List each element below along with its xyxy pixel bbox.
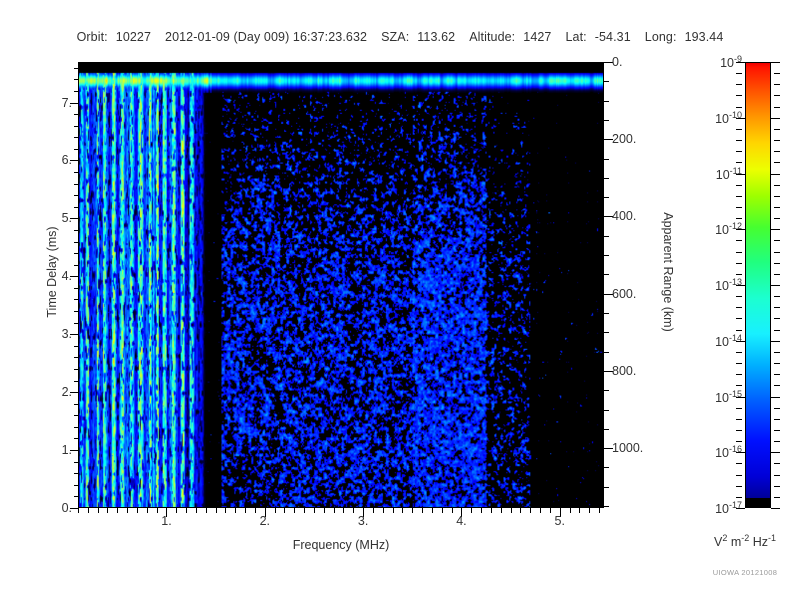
y-axis-right-tick-label: 600. <box>612 287 636 301</box>
long-label: Long: <box>645 30 677 44</box>
orbit-label: Orbit: <box>77 30 108 44</box>
sza-label: SZA: <box>381 30 409 44</box>
y-axis-left-tick-label: 6. <box>62 153 72 167</box>
x-axis-tick <box>501 508 502 513</box>
x-axis-tick <box>324 508 325 513</box>
x-axis-tick <box>334 508 335 513</box>
colorbar-tick <box>774 240 780 241</box>
colorbar-tick <box>774 352 780 353</box>
y-axis-right-tick-label: 0. <box>612 55 622 69</box>
altitude-value: 1427 <box>523 30 551 44</box>
colorbar-tick <box>771 285 780 286</box>
y-axis-left-tick <box>74 184 79 185</box>
colorbar-tick <box>774 196 780 197</box>
x-axis-tick <box>540 508 541 513</box>
y-axis-left-tick <box>74 369 79 370</box>
colorbar-tick <box>774 318 780 319</box>
y-axis-left-tick <box>74 311 79 312</box>
colorbar-tick <box>774 73 780 74</box>
x-axis-tick <box>225 508 226 513</box>
x-axis-tick <box>383 508 384 513</box>
y-axis-left-tick <box>74 323 79 324</box>
colorbar-tick <box>774 363 780 364</box>
colorbar-tick <box>771 397 780 398</box>
y-axis-left-tick <box>74 415 79 416</box>
colorbar-tick <box>771 118 780 119</box>
x-axis-tick <box>343 508 344 513</box>
y-axis-left-tick <box>74 438 79 439</box>
x-axis-tick <box>216 508 217 513</box>
y-axis-left-tick-label: 5. <box>62 211 72 225</box>
colorbar-tick-label: 10-17 <box>715 500 742 516</box>
y-axis-left-tick <box>74 288 79 289</box>
x-axis-tick <box>78 508 79 513</box>
colorbar-labels: 10-910-1010-1110-1210-1310-1410-1510-161… <box>690 62 742 508</box>
colorbar-tick <box>774 385 780 386</box>
y-axis-left-tick <box>74 473 79 474</box>
colorbar-tick <box>774 162 780 163</box>
long-value: 193.44 <box>685 30 724 44</box>
x-axis-title: Frequency (MHz) <box>78 538 604 552</box>
y-axis-left-tick <box>74 357 79 358</box>
colorbar-tick <box>774 374 780 375</box>
colorbar-tick <box>771 229 780 230</box>
y-axis-left-tick <box>74 91 79 92</box>
colorbar-tick <box>774 252 780 253</box>
y-axis-left-tick <box>74 346 79 347</box>
x-axis-tick <box>432 508 433 513</box>
y-axis-right-tick <box>604 101 609 102</box>
y-axis-left-tick <box>74 195 79 196</box>
colorbar-tick-label: 10-15 <box>715 388 742 404</box>
x-axis-tick <box>471 508 472 513</box>
colorbar-tick <box>774 107 780 108</box>
x-axis-tick <box>88 508 89 513</box>
y-axis-left-tick <box>74 265 79 266</box>
y-axis-left-tick <box>74 230 79 231</box>
colorbar-tick <box>774 330 780 331</box>
colorbar-tick <box>771 508 780 509</box>
x-axis-labels: 1.2.3.4.5. <box>78 514 604 534</box>
y-axis-left-tick <box>74 404 79 405</box>
colorbar-tick <box>774 430 780 431</box>
y-axis-right-tick <box>604 236 609 237</box>
colorbar-tick-label: 10-11 <box>716 165 742 181</box>
colorbar-tick-label: 10-10 <box>715 110 742 126</box>
y-axis-right-tick-label: 1000. <box>612 441 643 455</box>
x-axis-tick <box>275 508 276 513</box>
spectrogram-image <box>79 63 603 507</box>
x-axis-tick <box>373 508 374 513</box>
colorbar-tick <box>774 296 780 297</box>
x-axis-tick <box>530 508 531 513</box>
y-axis-right-tick <box>604 178 609 179</box>
x-axis-tick-label: 1. <box>161 514 171 528</box>
colorbar-tick <box>774 419 780 420</box>
colorbar-tick <box>774 140 780 141</box>
x-axis-tick <box>422 508 423 513</box>
y-axis-left-tick <box>74 242 79 243</box>
colorbar-tick <box>774 185 780 186</box>
observation-datetime: 2012-01-09 (Day 009) 16:37:23.632 <box>165 30 367 44</box>
colorbar-tick <box>774 95 780 96</box>
x-axis-tick-label: 4. <box>456 514 466 528</box>
x-axis-tick <box>206 508 207 513</box>
x-axis-tick <box>550 508 551 513</box>
x-axis-tick <box>304 508 305 513</box>
x-axis-tick <box>491 508 492 513</box>
orbit-value: 10227 <box>116 30 151 44</box>
colorbar-tick <box>774 408 780 409</box>
y-axis-right-tick <box>604 159 609 160</box>
x-axis-tick <box>599 508 600 513</box>
x-axis-tick <box>196 508 197 513</box>
y-axis-right-tick <box>604 410 609 411</box>
sza-value: 113.62 <box>417 30 455 44</box>
y-axis-right-tick <box>604 197 609 198</box>
colorbar-tick <box>774 463 780 464</box>
y-axis-right-tick <box>604 506 609 507</box>
x-axis-tick <box>570 508 571 513</box>
colorbar-tick <box>771 341 780 342</box>
x-axis-tick <box>147 508 148 513</box>
x-axis-tick <box>353 508 354 513</box>
x-axis-tick <box>176 508 177 513</box>
colorbar-tick-label: 10-12 <box>715 221 742 237</box>
y-axis-right-tick <box>604 429 609 430</box>
x-axis-tick <box>314 508 315 513</box>
x-axis-tick <box>393 508 394 513</box>
colorbar-units: V2 m-2 Hz-1 <box>690 533 800 549</box>
colorbar-tick <box>771 452 780 453</box>
altitude-label: Altitude: <box>469 30 515 44</box>
y-axis-left-tick <box>74 253 79 254</box>
x-axis-tick-label: 3. <box>358 514 368 528</box>
y-axis-left-tick-label: 0. <box>62 501 72 515</box>
x-axis-tick <box>117 508 118 513</box>
y-axis-left-tick <box>74 126 79 127</box>
y-axis-right-tick-label: 800. <box>612 364 636 378</box>
y-axis-right-tick <box>604 255 609 256</box>
y-axis-right-tick-label: 200. <box>612 132 636 146</box>
lat-label: Lat: <box>565 30 586 44</box>
credit-stamp: UIOWA 20121008 <box>690 568 800 577</box>
y-axis-left-tick <box>74 79 79 80</box>
y-axis-left-tick-label: 2. <box>62 385 72 399</box>
colorbar-tick <box>774 486 780 487</box>
y-axis-left-tick <box>74 496 79 497</box>
colorbar-tick-label: 10-9 <box>720 54 742 70</box>
x-axis-tick <box>520 508 521 513</box>
y-axis-right-tick <box>604 313 609 314</box>
x-axis-tick <box>284 508 285 513</box>
colorbar-tick <box>774 441 780 442</box>
y-axis-right-tick <box>604 332 609 333</box>
y-axis-left-tick <box>74 207 79 208</box>
y-axis-left-tick <box>74 114 79 115</box>
colorbar-tick <box>774 475 780 476</box>
x-axis-tick <box>235 508 236 513</box>
y-axis-left-tick <box>74 462 79 463</box>
x-axis-tick <box>589 508 590 513</box>
y-axis-left-tick <box>74 137 79 138</box>
colorbar-tick <box>771 62 780 63</box>
y-axis-left-tick-label: 7. <box>62 96 72 110</box>
y-axis-right-tick <box>604 120 609 121</box>
y-axis-left-tick-label: 3. <box>62 327 72 341</box>
x-axis-tick <box>107 508 108 513</box>
y-axis-right-title: Apparent Range (km) <box>661 172 675 372</box>
colorbar-tick <box>774 218 780 219</box>
x-axis-tick <box>98 508 99 513</box>
colorbar-tick <box>774 207 780 208</box>
colorbar-tick <box>774 151 780 152</box>
x-axis-tick <box>442 508 443 513</box>
y-axis-left-title: Time Delay (ms) <box>45 172 59 372</box>
header-metadata: Orbit:102272012-01-09 (Day 009) 16:37:23… <box>0 30 800 44</box>
x-axis-tick-label: 2. <box>260 514 270 528</box>
y-axis-left-tick-label: 4. <box>62 269 72 283</box>
colorbar-tick-label: 10-16 <box>715 444 742 460</box>
colorbar-tick <box>774 274 780 275</box>
colorbar-tick <box>774 129 780 130</box>
colorbar-tick <box>774 307 780 308</box>
lat-value: -54.31 <box>595 30 631 44</box>
colorbar-tick <box>771 174 780 175</box>
y-axis-left-tick <box>74 427 79 428</box>
spectrogram-plot <box>78 62 604 508</box>
y-axis-right-tick <box>604 467 609 468</box>
x-axis-tick <box>186 508 187 513</box>
y-axis-left-tick <box>74 68 79 69</box>
colorbar-ticks <box>736 62 780 508</box>
y-axis-right-tick-label: 400. <box>612 209 636 223</box>
colorbar-tick-label: 10-14 <box>715 333 742 349</box>
y-axis-right-tick <box>604 81 609 82</box>
x-axis-tick <box>137 508 138 513</box>
colorbar-tick-label: 10-13 <box>715 277 742 293</box>
y-axis-left-tick <box>74 299 79 300</box>
x-axis-tick <box>579 508 580 513</box>
y-axis-right-tick <box>604 274 609 275</box>
x-axis-tick <box>412 508 413 513</box>
x-axis-tick-label: 5. <box>555 514 565 528</box>
y-axis-left-tick <box>74 485 79 486</box>
x-axis-tick <box>511 508 512 513</box>
y-axis-right-labels: 0.200.400.600.800.1000. <box>612 62 668 508</box>
y-axis-left-tick <box>74 381 79 382</box>
colorbar-tick <box>774 84 780 85</box>
y-axis-right-tick <box>604 487 609 488</box>
y-axis-right-tick <box>604 390 609 391</box>
x-axis-tick <box>255 508 256 513</box>
x-axis-tick <box>245 508 246 513</box>
y-axis-left-tick-label: 1. <box>62 443 72 457</box>
y-axis-left-tick <box>74 172 79 173</box>
x-axis-tick <box>157 508 158 513</box>
y-axis-left-tick <box>74 149 79 150</box>
spectrogram-canvas <box>79 63 603 507</box>
x-axis-tick <box>127 508 128 513</box>
x-axis-tick <box>481 508 482 513</box>
colorbar-tick <box>774 263 780 264</box>
x-axis-tick <box>402 508 403 513</box>
x-axis-tick <box>294 508 295 513</box>
colorbar-tick <box>774 497 780 498</box>
x-axis-tick <box>452 508 453 513</box>
y-axis-right-tick <box>604 352 609 353</box>
